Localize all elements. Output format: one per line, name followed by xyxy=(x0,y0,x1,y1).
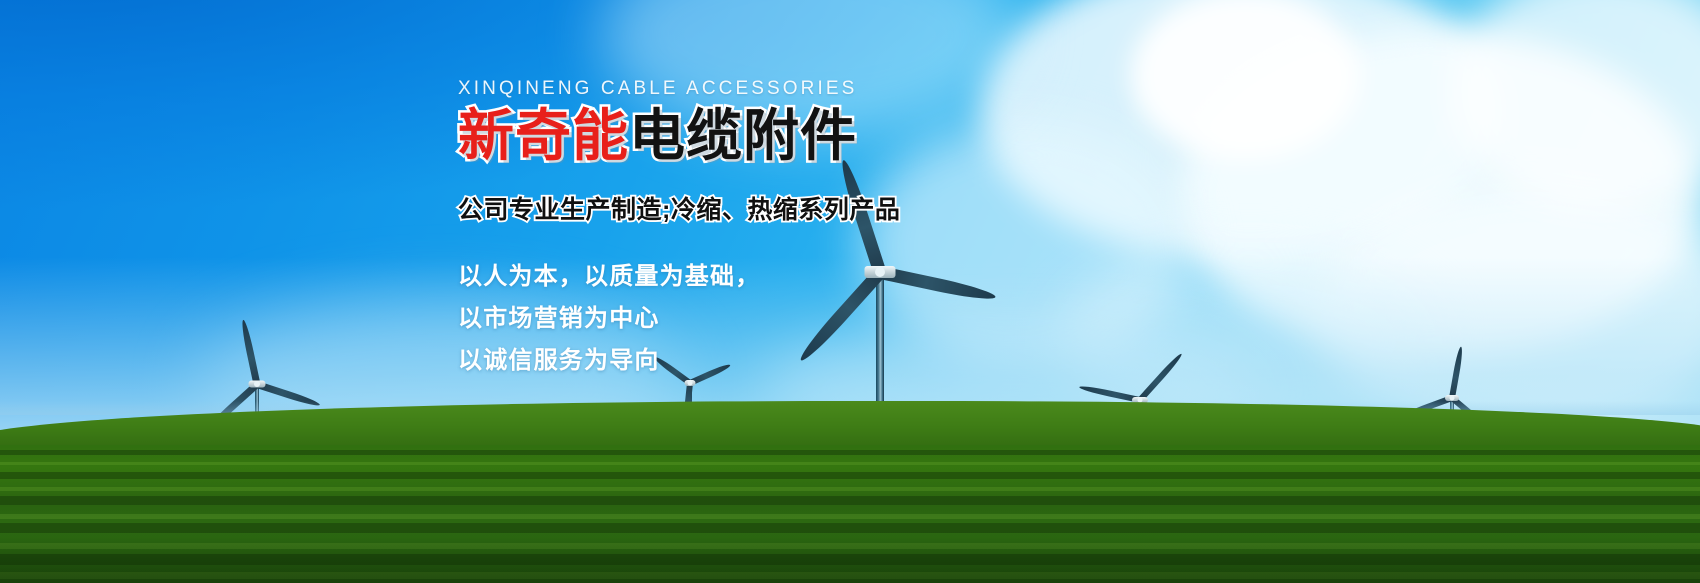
turbine-hub xyxy=(1450,396,1455,401)
turbine-hub xyxy=(254,381,260,387)
field-stripe xyxy=(0,487,1700,491)
slogan-list: 以人为本，以质量为基础， 以市场营销为中心 以诚信服务为导向 xyxy=(458,256,1158,382)
field-stripe xyxy=(0,472,1700,479)
brand-name-text: 新奇能 xyxy=(458,104,629,167)
field-stripe xyxy=(0,514,1700,519)
english-tagline: XINQINENG CABLE ACCESSORIES xyxy=(458,78,1158,100)
page-title: 新奇能电缆附件 xyxy=(458,106,1158,166)
field-stripe xyxy=(0,462,1700,465)
subtitle-text: 公司专业生产制造;冷缩、热缩系列产品 xyxy=(458,190,1158,226)
slogan-line: 以诚信服务为导向 xyxy=(458,340,1158,382)
ground-foreground-shadow xyxy=(0,523,1700,583)
promo-banner: XINQINENG CABLE ACCESSORIES 新奇能电缆附件 公司专业… xyxy=(0,0,1700,583)
banner-copy-block: XINQINENG CABLE ACCESSORIES 新奇能电缆附件 公司专业… xyxy=(458,78,1158,382)
field-stripe xyxy=(0,450,1700,455)
product-category-text: 电缆附件 xyxy=(629,104,857,167)
slogan-line: 以市场营销为中心 xyxy=(458,298,1158,340)
field-stripe xyxy=(0,496,1700,505)
grassland-ground xyxy=(0,408,1700,583)
slogan-line: 以人为本，以质量为基础， xyxy=(458,256,1158,298)
